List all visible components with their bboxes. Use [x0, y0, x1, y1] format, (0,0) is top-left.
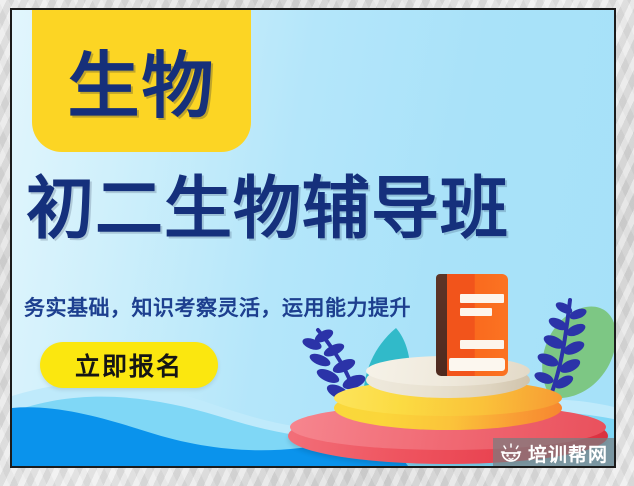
watermark: 培训帮网 [493, 438, 616, 468]
sun-face-logo-icon [500, 443, 522, 463]
watermark-text: 培训帮网 [528, 440, 608, 467]
enroll-now-button-label: 立即报名 [75, 347, 183, 383]
page-title: 初二生物辅导班 [26, 174, 604, 245]
book-page-edge [449, 358, 505, 371]
enroll-now-button[interactable]: 立即报名 [40, 342, 218, 388]
image-frame: 生物 初二生物辅导班 务实基础，知识考察灵活，运用能力提升 立即报名 [0, 0, 634, 486]
subject-tag-label: 生物 [67, 50, 215, 122]
book-line-2 [460, 308, 492, 316]
book-line-1 [460, 294, 504, 303]
book-line-3 [460, 340, 504, 349]
course-promo-poster: 生物 初二生物辅导班 务实基础，知识考察灵活，运用能力提升 立即报名 [10, 8, 616, 468]
subject-tag: 生物 [32, 8, 251, 152]
book-icon [436, 274, 508, 376]
poster-subtitle: 务实基础，知识考察灵活，运用能力提升 [24, 292, 411, 322]
